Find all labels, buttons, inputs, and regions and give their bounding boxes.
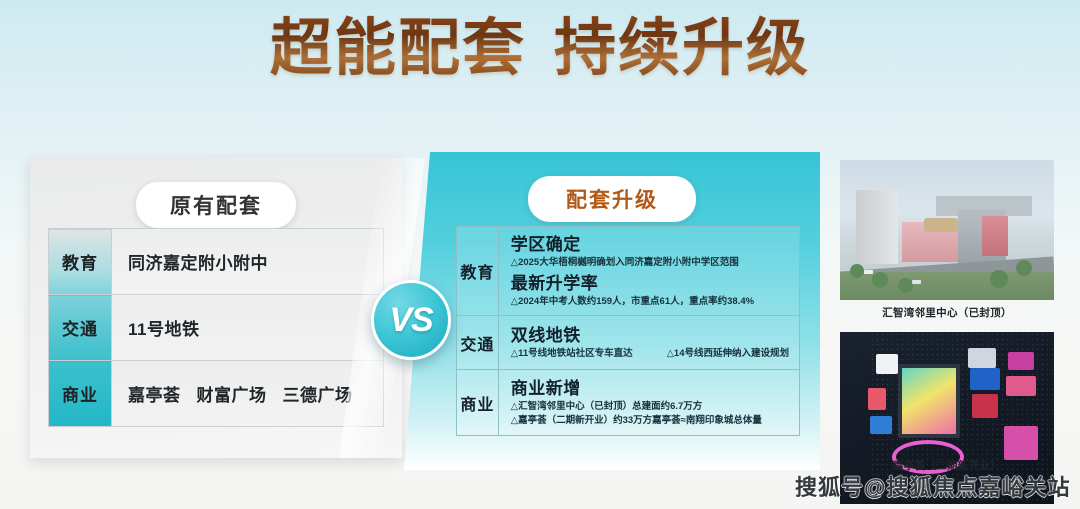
commerce-note1: △汇智湾邻里中心（已封顶）总建面约6.7万方 bbox=[511, 400, 789, 414]
page-title-part2: 持续升级 bbox=[554, 15, 810, 83]
commerce-item-1: 嘉亭荟 bbox=[128, 386, 181, 405]
row-label-transport: 交通 bbox=[49, 295, 112, 361]
commerce-item1-title: 商业新增 bbox=[511, 378, 789, 399]
row-label-education: 教育 bbox=[49, 229, 112, 295]
row-label-transport-new: 交通 bbox=[457, 316, 499, 370]
photo-led-screen-main bbox=[898, 364, 960, 438]
photo-car bbox=[912, 280, 921, 284]
upgraded-facilities-header: 配套升级 bbox=[528, 176, 696, 222]
photo-tree bbox=[898, 278, 913, 293]
row-value-commerce: 嘉亭荟财富广场三德广场 bbox=[112, 361, 384, 427]
photo-led-screen bbox=[972, 394, 998, 418]
photo-tree bbox=[1016, 260, 1032, 276]
photo-led-screen bbox=[868, 388, 886, 410]
photo-high-rise bbox=[856, 190, 898, 264]
original-facilities-table: 教育 同济嘉定附小附中 交通 11号地铁 商业 嘉亭荟财富广场三德广场 bbox=[48, 228, 384, 427]
edu-item1-title: 学区确定 bbox=[511, 234, 789, 255]
photo-caption-1: 汇智湾邻里中心（已封顶） bbox=[840, 305, 1054, 320]
upgraded-facilities-table: 教育 学区确定 △2025大华梧桐樾明确划入同济嘉定附小附中学区范围 最新升学率… bbox=[456, 226, 800, 436]
row-value-transport-new: 双线地铁 △11号线地铁站社区专车直达△14号线西延伸纳入建设规划 bbox=[498, 316, 799, 370]
photo-led-screen bbox=[970, 368, 1000, 390]
table-row: 交通 双线地铁 △11号线地铁站社区专车直达△14号线西延伸纳入建设规划 bbox=[457, 316, 800, 370]
row-label-education-new: 教育 bbox=[457, 227, 499, 316]
photo-car bbox=[864, 270, 873, 274]
row-value-transport: 11号地铁 bbox=[112, 295, 384, 361]
photo-tree bbox=[850, 264, 864, 278]
original-facilities-header: 原有配套 bbox=[136, 182, 296, 228]
table-row: 教育 同济嘉定附小附中 bbox=[49, 229, 384, 295]
commerce-item-3: 三德广场 bbox=[283, 386, 353, 405]
photo-led-screen bbox=[1008, 352, 1034, 370]
page-title-part1: 超能配套 bbox=[270, 15, 526, 83]
row-label-commerce-new: 商业 bbox=[457, 370, 499, 436]
photo-mall-red bbox=[982, 216, 1008, 256]
edu-item1-note: △2025大华梧桐樾明确划入同济嘉定附小附中学区范围 bbox=[511, 256, 789, 270]
vs-badge-label: VS bbox=[389, 301, 432, 340]
transport-note1: △11号线地铁站社区专车直达 bbox=[511, 348, 633, 359]
photo-tree bbox=[872, 272, 888, 288]
page-title: 超能配套持续升级 bbox=[0, 14, 1080, 85]
photo-roof-garden bbox=[924, 218, 958, 232]
commerce-note2: △嘉亭荟（二期新开业）约33万方嘉亭荟≈南翔印象城总体量 bbox=[511, 414, 789, 428]
table-row: 教育 学区确定 △2025大华梧桐樾明确划入同济嘉定附小附中学区范围 最新升学率… bbox=[457, 227, 800, 316]
transport-item1-title: 双线地铁 bbox=[511, 325, 789, 346]
photo-led-screen bbox=[870, 416, 892, 434]
transport-notes: △11号线地铁站社区专车直达△14号线西延伸纳入建设规划 bbox=[511, 347, 789, 361]
table-row: 交通 11号地铁 bbox=[49, 295, 384, 361]
row-label-commerce: 商业 bbox=[49, 361, 112, 427]
row-value-education: 同济嘉定附小附中 bbox=[112, 229, 384, 295]
original-facilities-panel: 原有配套 教育 同济嘉定附小附中 交通 11号地铁 商业 嘉亭荟财富广场三德广场 bbox=[30, 158, 402, 458]
table-row: 商业 嘉亭荟财富广场三德广场 bbox=[49, 361, 384, 427]
watermark: 搜狐号@搜狐焦点嘉峪关站 bbox=[795, 470, 1070, 502]
edu-item2-title: 最新升学率 bbox=[511, 273, 789, 294]
photo-led-screen bbox=[1004, 426, 1038, 460]
edu-item2-note: △2024年中考人数约159人，市重点61人，重点率约38.4% bbox=[511, 295, 789, 309]
photo-huizhiwan-neighborhood-center bbox=[840, 160, 1054, 300]
photo-background-buildings bbox=[936, 196, 1032, 216]
photo-led-screen bbox=[876, 354, 898, 374]
photo-tree bbox=[990, 270, 1008, 288]
vs-badge: VS bbox=[371, 280, 451, 360]
photo-led-screen bbox=[968, 348, 996, 368]
transport-note2: △14号线西延伸纳入建设规划 bbox=[667, 348, 789, 359]
commerce-item-2: 财富广场 bbox=[197, 386, 267, 405]
row-value-commerce-new: 商业新增 △汇智湾邻里中心（已封顶）总建面约6.7万方 △嘉亭荟（二期新开业）约… bbox=[498, 370, 799, 436]
slide-canvas: 超能配套持续升级 原有配套 教育 同济嘉定附小附中 交通 11号地铁 商业 嘉亭… bbox=[0, 0, 1080, 509]
table-row: 商业 商业新增 △汇智湾邻里中心（已封顶）总建面约6.7万方 △嘉亭荟（二期新开… bbox=[457, 370, 800, 436]
row-value-education-new: 学区确定 △2025大华梧桐樾明确划入同济嘉定附小附中学区范围 最新升学率 △2… bbox=[498, 227, 799, 316]
photo-led-screen bbox=[1006, 376, 1036, 396]
